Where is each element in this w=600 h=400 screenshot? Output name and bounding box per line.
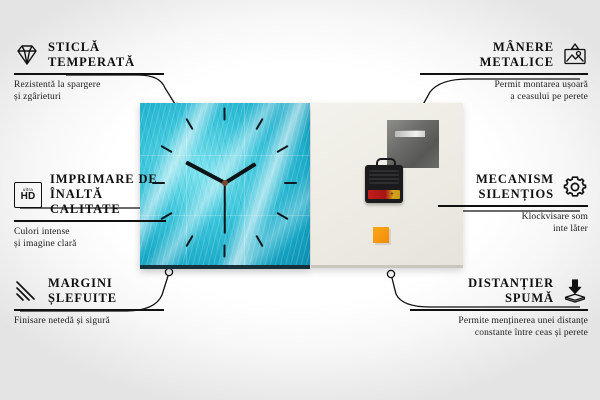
foam-spacer [373, 227, 389, 243]
callout-rule [14, 309, 164, 311]
callout-hooks[interactable]: MÂNEREMETALICE Permit montarea ușoarăa c… [420, 40, 588, 103]
battery: + [368, 190, 400, 199]
callout-subtitle: Permite menținerea unei distanțeconstant… [410, 315, 588, 339]
callout-subtitle: Permit montarea ușoarăa ceasului pe pere… [420, 79, 588, 103]
callout-subtitle: Culori intenseși imagine clară [14, 226, 166, 250]
clock-second-hand [224, 184, 226, 234]
callout-subtitle: Finisare netedă și sigură [14, 315, 164, 327]
clock-center-cap [222, 180, 228, 186]
callout-rule [14, 73, 164, 75]
press-down-spacer-icon [562, 278, 588, 304]
callout-title: MÂNEREMETALICE [480, 40, 554, 70]
callout-title: STICLĂTEMPERATĂ [48, 40, 135, 70]
clock-tick [284, 182, 297, 184]
callout-glass[interactable]: STICLĂTEMPERATĂ Rezistentă la spargereși… [14, 40, 164, 103]
callout-edges[interactable]: MARGINIȘLEFUITE Finisare netedă și sigur… [14, 276, 164, 327]
callout-rule [14, 220, 166, 222]
diamond-icon [14, 42, 40, 68]
callout-title: MARGINIȘLEFUITE [48, 276, 117, 306]
clock-tick [224, 245, 226, 258]
gear-icon [562, 174, 588, 200]
callout-mechanism[interactable]: MECANISMSILENȚIOS Klockvisare sominte lå… [438, 172, 588, 235]
callout-subtitle: Klockvisare sominte låter [438, 211, 588, 235]
callout-title: IMPRIMARE DEÎNALTĂ CALITATE [50, 172, 166, 217]
battery-plus-terminal: + [389, 191, 395, 197]
wire-endpoint-edges [165, 268, 172, 275]
ultra-hd-large-label: HD [21, 192, 36, 202]
callout-title: DISTANȚIERSPUMĂ [468, 276, 554, 306]
clock-tick [276, 145, 288, 153]
callout-rule [420, 73, 588, 75]
callout-subtitle: Rezistentă la spargereși zgârieturi [14, 79, 164, 103]
callout-print[interactable]: ultra HD IMPRIMARE DEÎNALTĂ CALITATE Cul… [14, 172, 166, 250]
mechanism-hanging-loop [376, 158, 396, 169]
clock-tick [224, 108, 226, 121]
clock-tick [255, 118, 263, 130]
infographic-canvas: + STICLĂTEMPERATĂ Rezistentă la spargere… [0, 0, 600, 400]
callout-title: MECANISMSILENȚIOS [476, 172, 554, 202]
hanging-picture-icon [562, 42, 588, 68]
wire-endpoint-foam [387, 270, 394, 277]
mechanism-body-detail [369, 170, 399, 184]
callout-rule [438, 205, 588, 207]
ultra-hd-icon: ultra HD [14, 182, 42, 208]
clock-tick [276, 212, 288, 220]
quartz-mechanism: + [365, 165, 403, 203]
clock-tick [160, 145, 172, 153]
clock-tick [255, 235, 263, 247]
callout-foam[interactable]: DISTANȚIERSPUMĂ Permite menținerea unei … [410, 276, 588, 339]
clock-minute-hand [185, 161, 226, 185]
clock-hour-hand [224, 162, 257, 184]
hanger-slot [395, 130, 425, 137]
polished-edges-icon [14, 278, 40, 304]
callout-rule [410, 309, 588, 311]
